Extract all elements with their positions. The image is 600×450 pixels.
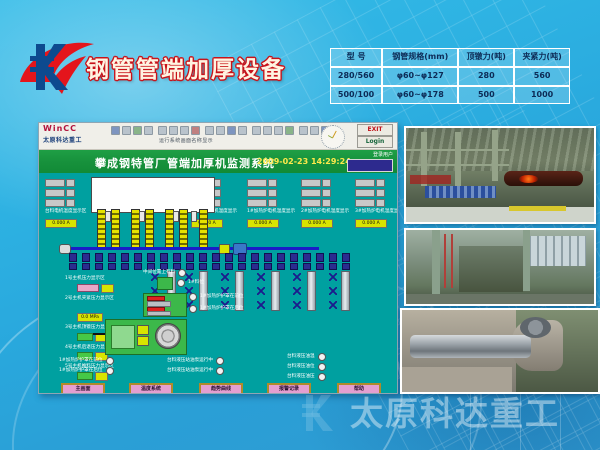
value-field [355, 199, 375, 207]
roller [316, 253, 324, 262]
heater-column [145, 209, 154, 249]
roller [342, 263, 350, 270]
value-field [247, 189, 267, 197]
table-cell: 560 [514, 67, 570, 86]
table-cell: 500 [458, 86, 514, 105]
table-cell: φ60~φ178 [382, 86, 458, 105]
unit-field [268, 179, 277, 187]
nav-button-trend[interactable]: 趋势曲线 [199, 383, 243, 394]
open-file-icon[interactable] [122, 126, 131, 135]
sensor-probe [173, 211, 179, 222]
nav-button-temperature[interactable]: 温度系统 [129, 383, 173, 394]
table-cell: 280 [458, 67, 514, 86]
vendor-subtitle: 太原科达重工 [43, 135, 82, 144]
pipe-connection [93, 333, 105, 335]
value-field [247, 179, 267, 187]
value-field [355, 179, 375, 187]
status-label: 台料液压油压 [287, 375, 315, 380]
roller [69, 253, 77, 262]
roller [264, 253, 272, 262]
table-cell: φ60~φ127 [382, 67, 458, 86]
roller [238, 253, 246, 262]
left-temp-group: 台料电机温度显示区 0.000 A [45, 179, 86, 228]
lock-icon[interactable] [310, 126, 319, 135]
temp-group: 2#加热炉电机温度显示 0.000 A [301, 179, 349, 228]
photo-pipe-end [400, 308, 600, 394]
status-row: 台料液压站油泵运行中 [167, 367, 224, 375]
sensor-probe [191, 211, 197, 222]
status-led [189, 293, 197, 301]
status-row: 1#加热炉护罩在后位 [59, 367, 114, 375]
roller [199, 253, 207, 262]
roller [69, 263, 77, 270]
paste-icon[interactable] [180, 126, 189, 135]
roller [160, 253, 168, 262]
status-row: 1#加热炉护罩在前位 [189, 293, 244, 301]
photo-workshop [404, 228, 596, 306]
table-header-cell: 钢管规格(mm) [382, 48, 458, 67]
roller [95, 263, 103, 270]
watermark: 太原科达重工 [300, 392, 560, 434]
pressure-unit [101, 284, 114, 293]
settings-icon[interactable] [274, 126, 283, 135]
zoom-out-icon[interactable] [216, 126, 225, 135]
hmi-title-bar: 攀成钢特管厂管端加厚机监测系统 2009-02-23 14:29:24 登录用户 [39, 150, 397, 174]
status-led [106, 357, 114, 365]
table-header-cell: 夹紧力(吨) [514, 48, 570, 67]
status-row: 1#加热炉护罩在前位 [59, 357, 114, 365]
value-field [45, 189, 65, 197]
roller [199, 263, 207, 270]
value-field [247, 199, 267, 207]
status-label: 台料液压站油泵运行中 [167, 359, 213, 364]
valve-cross-icon [329, 273, 337, 281]
status-label: 1#加热炉护罩在后位 [200, 307, 244, 312]
status-label: 1#料位 [188, 281, 204, 286]
hydraulic-cylinder [341, 271, 350, 311]
valve-cross-icon [293, 273, 301, 281]
table-cell: 500/100 [330, 86, 382, 105]
status-row: 台料液压油位 [287, 363, 326, 371]
roller [121, 263, 129, 270]
nav-button-main[interactable]: 主画面 [61, 383, 105, 394]
stop-icon[interactable] [263, 126, 272, 135]
roller [134, 253, 142, 262]
table-cell: 1000 [514, 86, 570, 105]
roller [212, 263, 220, 270]
unit-field [322, 199, 331, 207]
table-header-cell: 顶镦力(吨) [458, 48, 514, 67]
current-reading: 0.000 A [355, 219, 387, 228]
roller [82, 263, 90, 270]
grid-icon[interactable] [227, 126, 236, 135]
roller [277, 253, 285, 262]
unit-field [66, 189, 75, 197]
watermark-text: 太原科达重工 [350, 397, 560, 430]
unit-field [268, 199, 277, 207]
table-row: 280/560 φ60~φ127 280 560 [330, 67, 570, 86]
temp-group: 3#加热炉电机温度显示 0.000 A [355, 179, 398, 228]
conveyor-rail [69, 247, 319, 250]
run-icon[interactable] [252, 126, 261, 135]
page-title: 钢管管端加厚设备 [86, 50, 286, 84]
pressure-label: 1号主机压力显示区 [65, 277, 114, 282]
valve-cross-icon [221, 273, 229, 281]
photo-mill-hall [404, 126, 596, 224]
unit-field [268, 189, 277, 197]
roller [238, 263, 246, 270]
value-field [45, 179, 65, 187]
watermark-logo-icon [300, 392, 344, 434]
status-label: 台料液压油位 [287, 365, 315, 370]
group-label: 1#加热炉电机温度显示 [247, 210, 295, 215]
status-led [318, 363, 326, 371]
hmi-user-field[interactable] [347, 159, 393, 172]
table-row: 500/100 φ60~φ178 500 1000 [330, 86, 570, 105]
hmi-toolbar: WinCC 太原科达重工 [39, 123, 397, 150]
roller [303, 263, 311, 270]
roller-bank-bottom [69, 263, 350, 270]
hydraulic-cylinder [307, 271, 316, 311]
pump-tank [111, 325, 135, 349]
slide-root: 钢管管端加厚设备 型 号 钢管规格(mm) 顶镦力(吨) 夹紧力(吨) 280/… [0, 0, 600, 450]
status-led [178, 269, 186, 277]
unit-field [322, 179, 331, 187]
hmi-datetime: 2009-02-23 14:29:24 [257, 157, 351, 166]
new-file-icon[interactable] [111, 126, 120, 135]
roller [316, 263, 324, 270]
hmi-system-title: 攀成钢特管厂管端加厚机监测系统 [95, 155, 275, 171]
print-icon[interactable] [144, 126, 153, 135]
roller [342, 253, 350, 262]
status-row: 中间位置上有料 [143, 269, 186, 277]
roller [186, 263, 194, 270]
hmi-user-label: 登录用户 [373, 151, 393, 158]
value-field [355, 189, 375, 197]
status-label: 台料液压站油泵运行中 [167, 369, 213, 374]
valve-cross-icon [329, 301, 337, 309]
group-label: 2#加热炉电机温度显示 [301, 210, 349, 215]
valve-cross-icon [293, 287, 301, 295]
unit-field [66, 199, 75, 207]
pump-wheel-icon [155, 323, 181, 349]
logo-k-icon [26, 40, 80, 94]
help-icon[interactable] [285, 126, 294, 135]
toolbar-icon-group[interactable] [111, 126, 330, 135]
pump-indicator [137, 336, 149, 346]
roller [251, 263, 259, 270]
pressure-value: 0.0 MPa [77, 313, 103, 322]
heater-column [179, 209, 188, 249]
cut-icon[interactable] [158, 126, 167, 135]
roller [186, 253, 194, 262]
status-label: 1#加热炉护罩在前位 [59, 359, 103, 364]
status-row: 台料液压油温 [287, 353, 326, 361]
roller [329, 253, 337, 262]
table-header-row: 型 号 钢管规格(mm) 顶镦力(吨) 夹紧力(吨) [330, 48, 570, 67]
heater-column [199, 209, 208, 249]
align-icon[interactable] [238, 126, 247, 135]
login-button[interactable]: Login [357, 136, 393, 148]
unit-field [376, 189, 385, 197]
status-led [189, 305, 197, 313]
status-row: 1#料位 [177, 279, 204, 287]
status-label: 中间位置上有料 [143, 271, 175, 276]
status-row: 台料液压站油泵运行中 [167, 357, 224, 365]
roller [264, 263, 272, 270]
status-row: 1#加热炉护罩在后位 [189, 305, 244, 313]
toolbar-note: 运行系统画面名称显示 [159, 137, 213, 144]
valve-cross-icon [293, 301, 301, 309]
roller [147, 253, 155, 262]
spec-table: 型 号 钢管规格(mm) 顶镦力(吨) 夹紧力(吨) 280/560 φ60~φ… [330, 48, 570, 104]
valve-cross-icon [257, 287, 265, 295]
status-row: 台料液压油压 [287, 373, 326, 381]
sensor-probe [105, 211, 111, 222]
roller [225, 263, 233, 270]
status-led [216, 357, 224, 365]
roller [108, 263, 116, 270]
wincc-logo: WinCC [43, 124, 77, 133]
valve-cross-icon [257, 301, 265, 309]
value-field [301, 199, 321, 207]
undo-icon[interactable] [191, 126, 200, 135]
heater-column [111, 209, 120, 249]
current-reading: 0.000 A [247, 219, 279, 228]
valve-cross-icon [329, 287, 337, 295]
current-reading: 0.000 A [301, 219, 333, 228]
roller [303, 253, 311, 262]
roller [121, 253, 129, 262]
valve-cross-icon [257, 273, 265, 281]
group-label: 台料电机温度显示区 [45, 210, 86, 215]
roller [290, 253, 298, 262]
save-icon[interactable] [133, 126, 142, 135]
manifold-line [147, 311, 171, 316]
roller [134, 263, 142, 270]
copy-icon[interactable] [169, 126, 178, 135]
status-label: 1#加热炉护罩在后位 [59, 369, 103, 374]
roller [82, 253, 90, 262]
pressure-value [77, 284, 99, 292]
roller-bank-top [69, 253, 350, 262]
roller [173, 253, 181, 262]
status-led [318, 373, 326, 381]
layers-icon[interactable] [299, 126, 308, 135]
roller [290, 263, 298, 270]
unit-field [376, 199, 385, 207]
pressure-label: 2号主机夹紧压力显示区 [65, 297, 114, 302]
exit-button[interactable]: EXIT [357, 124, 393, 136]
roller [212, 253, 220, 262]
unit-field [376, 179, 385, 187]
status-led [216, 367, 224, 375]
roller [108, 253, 116, 262]
value-field [301, 189, 321, 197]
unit-field [66, 179, 75, 187]
status-led [106, 367, 114, 375]
status-label: 1#加热炉护罩在前位 [200, 295, 244, 300]
roller [95, 253, 103, 262]
status-label: 台料液压油温 [287, 355, 315, 360]
hydraulic-cylinder [271, 271, 280, 311]
roller [251, 253, 259, 262]
clock-icon [321, 125, 345, 149]
unit-field [322, 189, 331, 197]
roller [225, 253, 233, 262]
zoom-in-icon[interactable] [205, 126, 214, 135]
value-field [301, 179, 321, 187]
pump-indicator [137, 325, 149, 335]
roller [277, 263, 285, 270]
hmi-process-canvas: 台料电机温度显示区 0.000 A 轧式送料电机温度显示 0.000 A [39, 173, 397, 393]
value-field [45, 199, 65, 207]
status-led [318, 353, 326, 361]
pressure-value [77, 333, 93, 341]
status-led [177, 279, 185, 287]
sensor-probe [139, 211, 145, 222]
current-reading: 0.000 A [45, 219, 77, 228]
hmi-screenshot-panel: WinCC 太原科达重工 [38, 122, 398, 394]
furnace-body [91, 177, 215, 213]
group-label: 3#加热炉电机温度显示 [355, 210, 398, 215]
table-header-cell: 型 号 [330, 48, 382, 67]
table-cell: 280/560 [330, 67, 382, 86]
feeder-block [157, 277, 173, 290]
roller [329, 263, 337, 270]
temp-group: 1#加热炉电机温度显示 0.000 A [247, 179, 295, 228]
